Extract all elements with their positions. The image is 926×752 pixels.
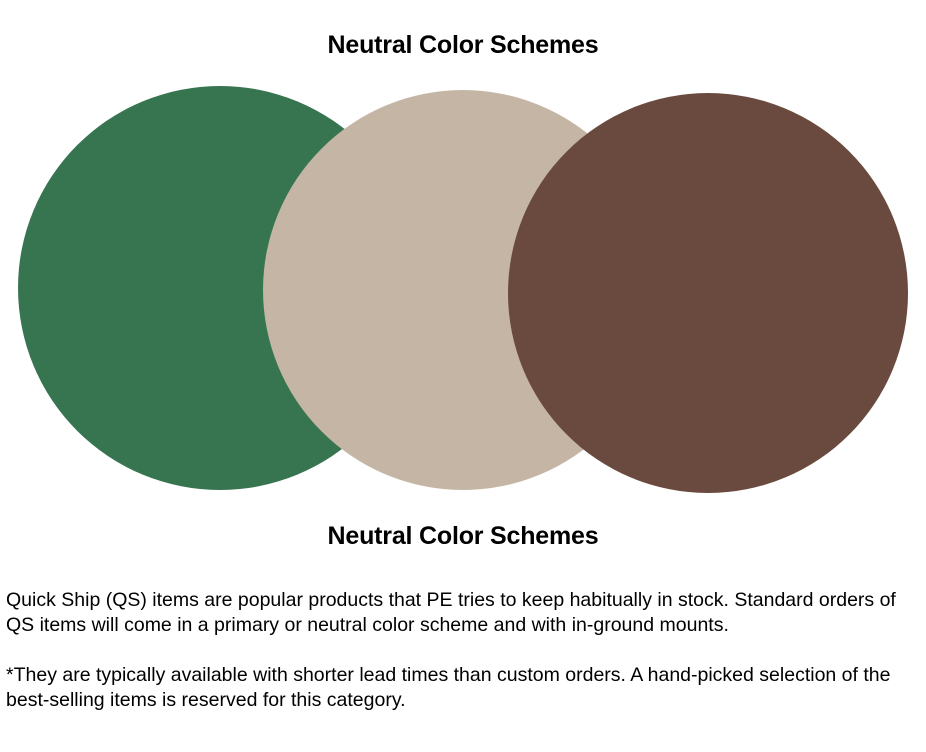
color-scheme-page: Neutral Color Schemes Neutral Color Sche…: [0, 0, 926, 752]
body-paragraph-1: Quick Ship (QS) items are popular produc…: [6, 588, 914, 638]
color-swatch-group: [0, 0, 926, 500]
page-title-bottom: Neutral Color Schemes: [0, 521, 926, 551]
body-copy: Quick Ship (QS) items are popular produc…: [6, 588, 914, 713]
body-paragraph-2: *They are typically available with short…: [6, 663, 914, 713]
color-swatch-brown: [508, 93, 908, 493]
